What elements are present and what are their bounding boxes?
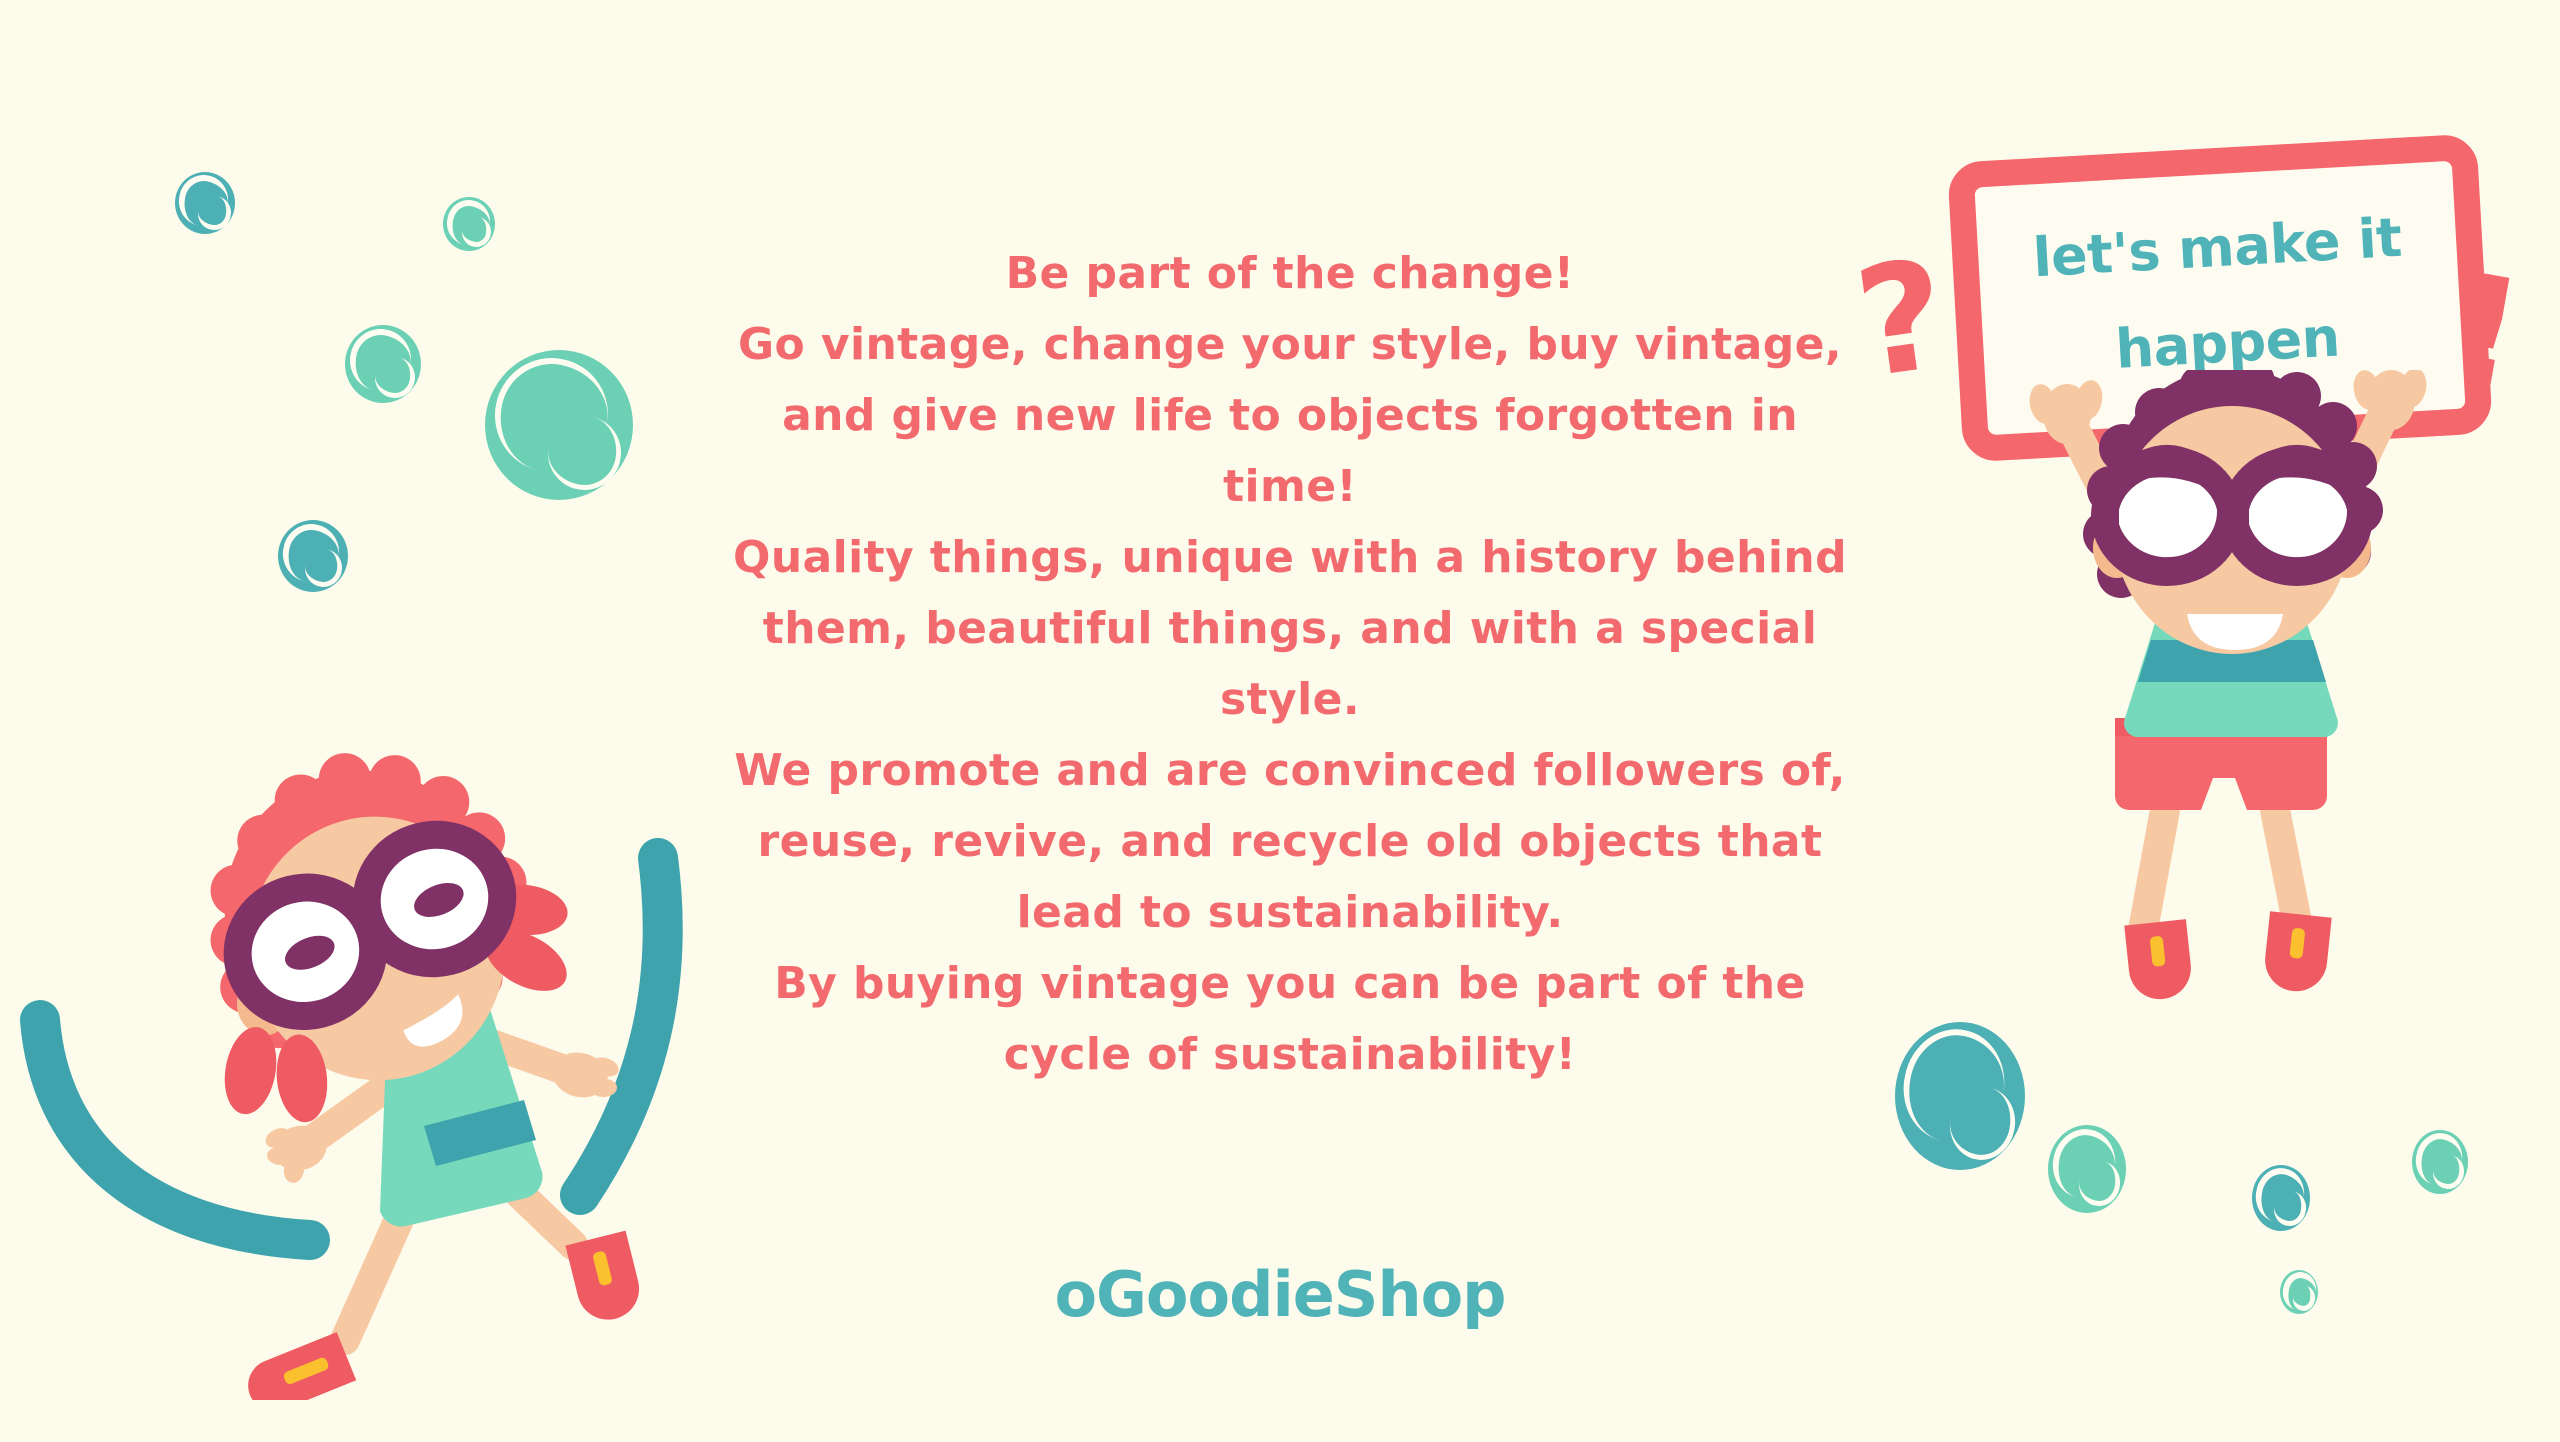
bubble-decoration <box>1895 1022 2025 1170</box>
bubble-highlight-icon <box>2251 1164 2309 1226</box>
bubble-highlight-icon <box>542 410 627 496</box>
boy-left-leg <box>2143 810 2165 930</box>
bubble-highlight-icon <box>2075 1158 2123 1210</box>
message-line: Quality things, unique with a history be… <box>700 522 1880 593</box>
bubble-decoration <box>443 197 495 251</box>
message-line: We promote and are convinced followers o… <box>700 735 1880 806</box>
boy-right-shoe <box>2262 911 2332 994</box>
bubble-decoration <box>345 325 421 403</box>
bubble-decoration <box>2252 1165 2310 1231</box>
boy-right-leg <box>2275 810 2297 922</box>
message-line: cycle of sustainability! <box>700 1019 1880 1090</box>
message-line: Go vintage, change your style, buy vinta… <box>700 309 1880 380</box>
brand-logo: oGoodieShop <box>0 1258 2560 1331</box>
boy-left-shoe <box>2124 919 2194 1002</box>
message-line: and give new life to objects forgotten i… <box>700 380 1880 451</box>
bubble-highlight-icon <box>372 354 418 401</box>
bubble-decoration <box>278 520 348 592</box>
bubble-highlight-icon <box>442 196 494 249</box>
message-line: time! <box>700 451 1880 522</box>
bubble-decoration <box>2412 1130 2468 1194</box>
bubble-highlight-icon <box>2411 1129 2467 1190</box>
bubble-decoration <box>2048 1125 2126 1213</box>
message-line: reuse, revive, and recycle old objects t… <box>700 806 1880 877</box>
boy-right-hand <box>2350 370 2430 430</box>
message-line: them, beautiful things, and with a speci… <box>700 593 1880 664</box>
boy-head <box>2083 370 2383 654</box>
bubble-highlight-icon <box>1944 1081 2021 1164</box>
bubble-highlight-icon <box>174 171 233 231</box>
bubble-highlight-icon <box>1893 1020 2014 1151</box>
boy-character <box>1955 370 2515 1010</box>
bubble-highlight-icon <box>302 546 345 590</box>
bubble-highlight-icon <box>460 215 494 249</box>
message-line: style. <box>700 664 1880 735</box>
message-line: By buying vintage you can be part of the <box>700 948 1880 1019</box>
bubble-decoration <box>485 350 633 500</box>
bubble-highlight-icon <box>277 518 344 586</box>
bubble-highlight-icon <box>2047 1124 2122 1205</box>
bubble-highlight-icon <box>2430 1153 2466 1192</box>
message-text-block: Be part of the change!Go vintage, change… <box>700 238 1880 1090</box>
message-line: lead to sustainability. <box>700 877 1880 948</box>
poster-canvas: let's make it happen ? ! <box>0 0 2560 1442</box>
message-line: Be part of the change! <box>700 238 1880 309</box>
bubble-highlight-icon <box>345 323 417 396</box>
bubble-highlight-icon <box>2271 1189 2308 1229</box>
girl-left-shoe <box>240 1332 356 1400</box>
bubble-highlight-icon <box>485 347 619 482</box>
bubble-decoration <box>175 172 235 234</box>
bubble-highlight-icon <box>195 194 233 233</box>
